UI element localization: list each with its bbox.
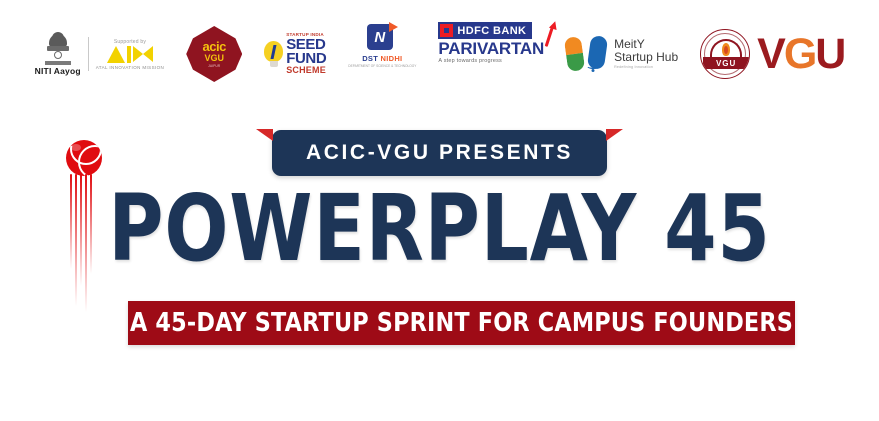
event-poster: NITI Aayog Supported by ATAL INNOVATION … <box>0 0 879 421</box>
nidhi-label: NIDHI <box>381 54 403 63</box>
sponsor-logo-bar: NITI Aayog Supported by ATAL INNOVATION … <box>0 18 879 90</box>
logo-acic-vgu: acic VGU JAIPUR <box>186 22 242 86</box>
vgu-crest-icon: VGU <box>700 29 750 79</box>
vgu-crest-label: VGU <box>716 59 736 68</box>
logo-vgu: VGU VGU <box>700 22 844 86</box>
acic-tagline: JAIPUR <box>208 64 220 68</box>
aim-supported-by-label: Supported by <box>114 39 146 45</box>
event-subtitle: A 45-DAY STARTUP SPRINT FOR CAMPUS FOUND… <box>130 310 793 336</box>
presents-banner-wrap: ACIC-VGU PRESENTS <box>0 130 879 176</box>
hdfc-square-icon <box>440 24 453 37</box>
dst-nidhi-label: DST NIDHI <box>362 54 402 63</box>
acic-word: acic <box>203 40 226 53</box>
parivartan-tagline: A step towards progress <box>438 58 502 64</box>
aim-mark-icon <box>107 46 153 63</box>
ashoka-emblem-icon <box>45 33 71 65</box>
hdfc-bank-label: HDFC BANK <box>457 25 526 37</box>
seed-fund-text: STARTUP INDIA SEED FUND SCHEME <box>286 33 326 74</box>
dst-label: DST <box>362 54 380 63</box>
presents-banner: ACIC-VGU PRESENTS <box>272 130 607 176</box>
aim-logo: Supported by ATAL INNOVATION MISSION <box>96 39 164 70</box>
meity-line2: Startup Hub <box>614 51 678 64</box>
hdfc-bank-lockup: HDFC BANK <box>438 22 532 39</box>
logo-hdfc-parivartan: HDFC BANK PARIVARTAN A step towards prog… <box>438 22 544 86</box>
acic-vgu-sub: VGU <box>204 54 224 63</box>
ribbon-tail-left-icon <box>256 129 273 141</box>
event-title: POWERPLAY 45 <box>79 183 800 275</box>
logo-niti-aayog-aim: NITI Aayog Supported by ATAL INNOVATION … <box>35 22 165 86</box>
meity-tagline: Redefining Innovation <box>614 66 678 70</box>
meity-text-block: MeitY Startup Hub Redefining Innovation <box>614 38 678 70</box>
logo-meity-startup-hub: MeitY Startup Hub Redefining Innovation <box>566 22 678 86</box>
dst-nidhi-mark-icon: N <box>365 22 399 52</box>
presents-label: ACIC-VGU PRESENTS <box>272 130 607 176</box>
seed-fund-line2: FUND <box>286 52 326 66</box>
logo-dst-nidhi: N DST NIDHI DEPARTMENT OF SCIENCE & TECH… <box>348 22 416 86</box>
niti-aayog-label: NITI Aayog <box>35 66 81 76</box>
vgu-wordmark-v: V <box>757 30 784 78</box>
acic-diamond-icon: acic VGU JAIPUR <box>186 26 242 82</box>
niti-aayog-logo: NITI Aayog <box>35 33 81 76</box>
lightbulb-icon <box>264 39 284 69</box>
dst-nidhi-tagline: DEPARTMENT OF SCIENCE & TECHNOLOGY <box>348 64 416 68</box>
upward-arrow-icon <box>546 22 560 48</box>
logo-seed-fund-scheme: STARTUP INDIA SEED FUND SCHEME <box>264 22 326 86</box>
vgu-wordmark: VGU <box>757 33 844 76</box>
subtitle-banner: A 45-DAY STARTUP SPRINT FOR CAMPUS FOUND… <box>128 301 795 345</box>
vgu-wordmark-u: U <box>815 30 844 78</box>
ribbon-tail-right-icon <box>606 129 623 141</box>
aim-tagline: ATAL INNOVATION MISSION <box>96 65 164 70</box>
dst-mark-letter: N <box>374 30 385 45</box>
wifi-icon <box>585 60 601 72</box>
parivartan-label: PARIVARTAN <box>438 40 544 58</box>
logo-divider <box>88 37 89 71</box>
meity-mark-icon <box>566 35 606 73</box>
seed-fund-line3: SCHEME <box>286 66 326 75</box>
vgu-wordmark-g: G <box>784 30 815 78</box>
